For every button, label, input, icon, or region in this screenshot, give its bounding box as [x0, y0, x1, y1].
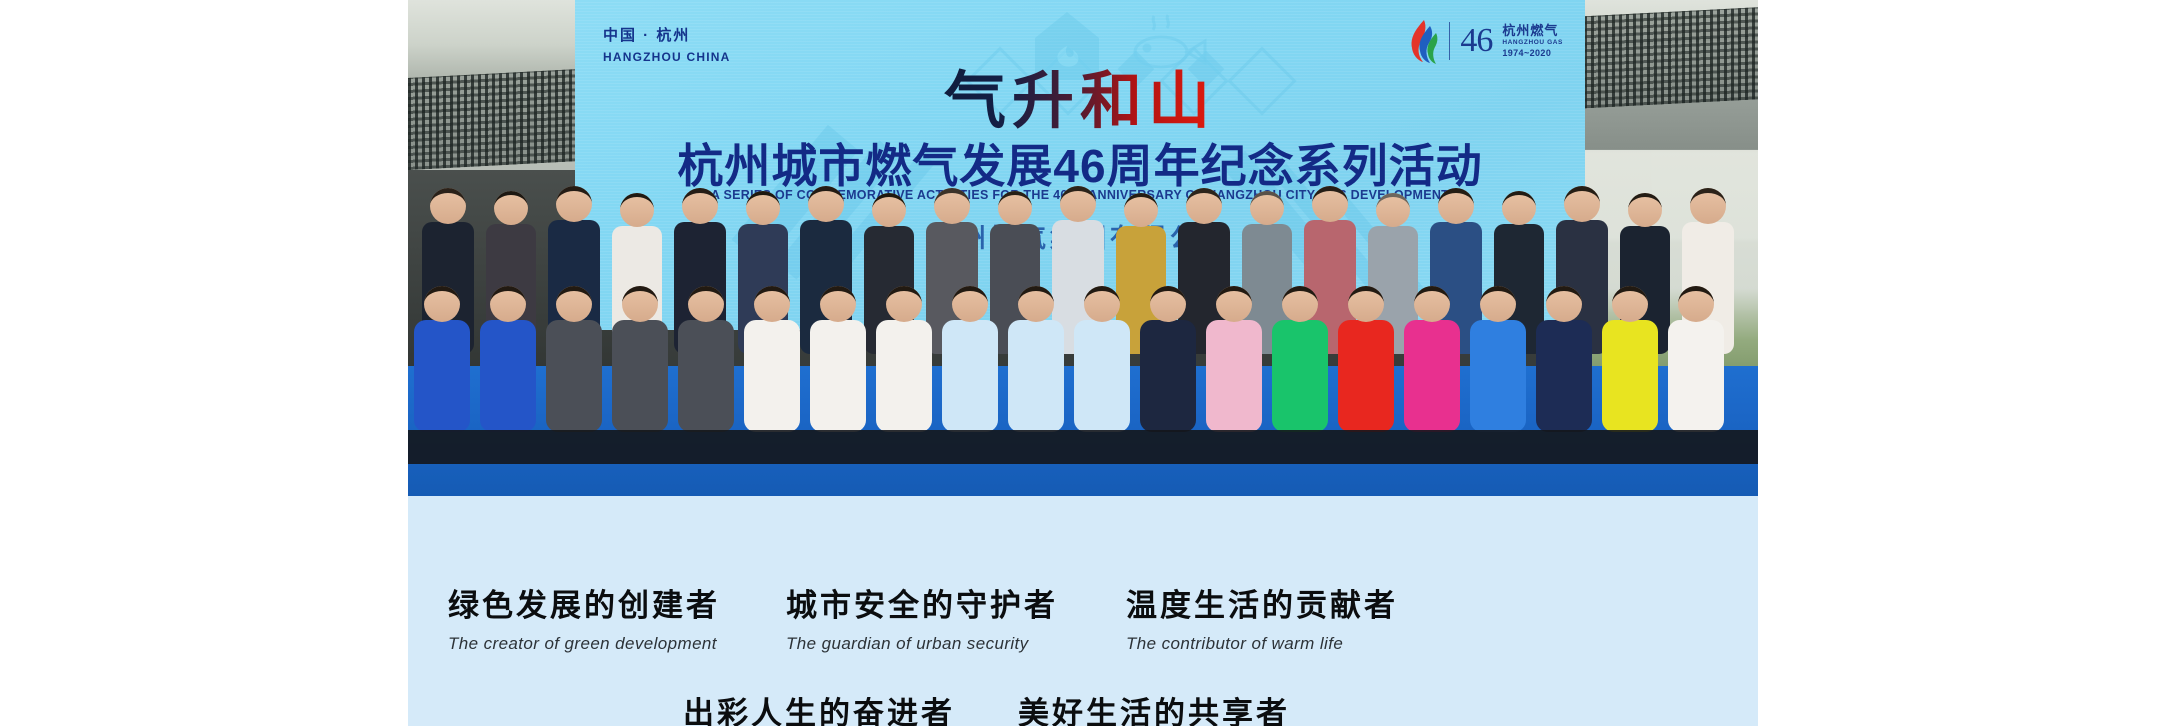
slogan-cn-1: 城市安全的守护者 [786, 580, 1058, 625]
logo-company-cn: 杭州燃气 [1502, 23, 1563, 39]
poster-content: 中国 · 杭州 HANGZHOU CHINA 46 杭州燃气 HANGZHOU … [408, 0, 1758, 726]
slogan-item-0: 绿色发展的创建者 The creator of green developmen… [448, 580, 720, 654]
logo-years: 1974~2020 [1502, 48, 1563, 59]
anniversary-number: 46 [1460, 24, 1492, 58]
slogan-cn-3: 出彩人生的奋进者 [683, 688, 955, 726]
stage-floor [408, 366, 1758, 496]
slogan-en-2: The contributor of warm life [1126, 634, 1398, 654]
banner-company-line: 杭州燃气集团有限公司 [930, 218, 1230, 255]
slogan-panel: 绿色发展的创建者 The creator of green developmen… [408, 496, 1758, 726]
location-en: HANGZHOU CHINA [603, 49, 730, 65]
slogan-cn-4: 美好生活的共享者 [1018, 688, 1290, 726]
logo-divider [1449, 22, 1450, 60]
led-screen: 中国 · 杭州 HANGZHOU CHINA 46 杭州燃气 HANGZHOU … [575, 0, 1585, 330]
flame-icon [1405, 18, 1439, 64]
slogan-item-2: 温度生活的贡献者 The contributor of warm life [1126, 580, 1398, 654]
company-logo: 46 杭州燃气 HANGZHOU GAS 1974~2020 [1405, 18, 1563, 64]
banner-title-en: A SERIES OF COMMEMORATIVE ACTIVITIES FOR… [711, 188, 1449, 202]
poster-page: 中国 · 杭州 HANGZHOU CHINA 46 杭州燃气 HANGZHOU … [0, 0, 2179, 726]
slogan-en-1: The guardian of urban security [786, 634, 1058, 654]
hero-wordmark: 气升和山 [944, 50, 1216, 140]
slogan-en-0: The creator of green development [448, 634, 720, 654]
slogan-cn-2: 温度生活的贡献者 [1126, 580, 1398, 625]
group-photo: 中国 · 杭州 HANGZHOU CHINA 46 杭州燃气 HANGZHOU … [408, 0, 1758, 496]
banner-title-cn: 杭州城市燃气发展46周年纪念系列活动 [677, 130, 1482, 196]
slogan-item-1: 城市安全的守护者 The guardian of urban security [786, 580, 1058, 654]
location-cn: 中国 · 杭州 [603, 26, 730, 46]
logo-wordmark: 杭州燃气 HANGZHOU GAS 1974~2020 [1502, 23, 1563, 58]
slogan-item-3: 出彩人生的奋进者 The creator of colorful life [683, 688, 955, 726]
banner-location: 中国 · 杭州 HANGZHOU CHINA [603, 26, 730, 65]
logo-company-en: HANGZHOU GAS [1502, 39, 1563, 47]
slogan-cn-0: 绿色发展的创建者 [448, 580, 720, 625]
slogan-item-4: 美好生活的共享者 The sharer of better life [1018, 688, 1290, 726]
